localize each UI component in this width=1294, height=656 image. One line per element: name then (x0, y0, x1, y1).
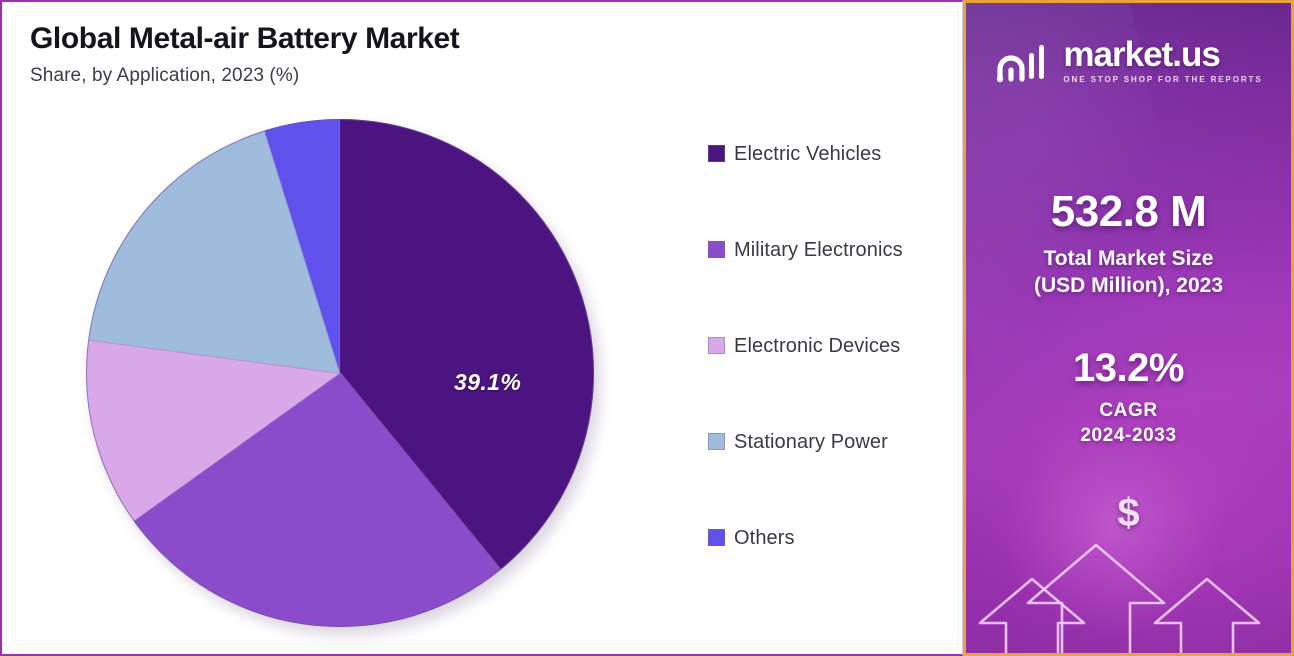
growth-arrows-graphic: $ (966, 483, 1291, 653)
legend-item-label: Electronic Devices (734, 332, 900, 361)
cagr-caption-line2: 2024-2033 (966, 424, 1291, 449)
cagr-stat: 13.2% CAGR 2024-2033 (966, 347, 1291, 448)
brand-panel: market.us ONE STOP SHOP FOR THE REPORTS … (963, 0, 1294, 656)
brand-wordmark-block: market.us ONE STOP SHOP FOR THE REPORTS (1063, 37, 1262, 84)
cagr-caption: CAGR 2024-2033 (966, 399, 1291, 448)
market-size-stat: 532.8 M Total Market Size (USD Million),… (966, 189, 1291, 300)
chart-heading-group: Global Metal-air Battery Market Share, b… (30, 22, 459, 87)
pie-slice-label-electric-vehicles: 39.1% (454, 369, 521, 396)
legend-item[interactable]: Military Electronics (708, 236, 948, 332)
brand-tagline: ONE STOP SHOP FOR THE REPORTS (1063, 76, 1262, 84)
legend-item[interactable]: Electric Vehicles (708, 140, 948, 236)
chart-legend: Electric VehiclesMilitary ElectronicsEle… (708, 140, 948, 553)
legend-swatch-icon (708, 337, 725, 354)
pie-chart: 39.1% (86, 119, 596, 629)
chart-panel: Global Metal-air Battery Market Share, b… (0, 0, 963, 656)
market-size-caption: Total Market Size (USD Million), 2023 (966, 245, 1291, 300)
brand-wordmark: market.us (1063, 35, 1219, 74)
market-size-value: 532.8 M (966, 189, 1291, 235)
legend-item[interactable]: Others (708, 524, 948, 553)
market-size-caption-line1: Total Market Size (966, 245, 1291, 272)
legend-item-label: Electric Vehicles (734, 140, 881, 169)
legend-item-label: Stationary Power (734, 428, 888, 457)
infographic-page: Global Metal-air Battery Market Share, b… (0, 0, 1294, 656)
legend-item-label: Military Electronics (734, 236, 903, 265)
legend-item[interactable]: Electronic Devices (708, 332, 948, 428)
legend-item[interactable]: Stationary Power (708, 428, 948, 524)
legend-swatch-icon (708, 529, 725, 546)
legend-item-label: Others (734, 524, 795, 553)
cagr-value: 13.2% (966, 347, 1291, 389)
legend-swatch-icon (708, 145, 725, 162)
legend-swatch-icon (708, 433, 725, 450)
market-size-caption-line2: (USD Million), 2023 (966, 272, 1291, 299)
market-us-logo-icon (994, 39, 1052, 83)
page-title: Global Metal-air Battery Market (30, 22, 459, 57)
chart-subtitle: Share, by Application, 2023 (%) (30, 65, 459, 87)
dollar-sign-icon: $ (966, 491, 1291, 536)
brand-logo[interactable]: market.us ONE STOP SHOP FOR THE REPORTS (966, 37, 1291, 84)
legend-swatch-icon (708, 241, 725, 258)
cagr-caption-line1: CAGR (966, 399, 1291, 424)
